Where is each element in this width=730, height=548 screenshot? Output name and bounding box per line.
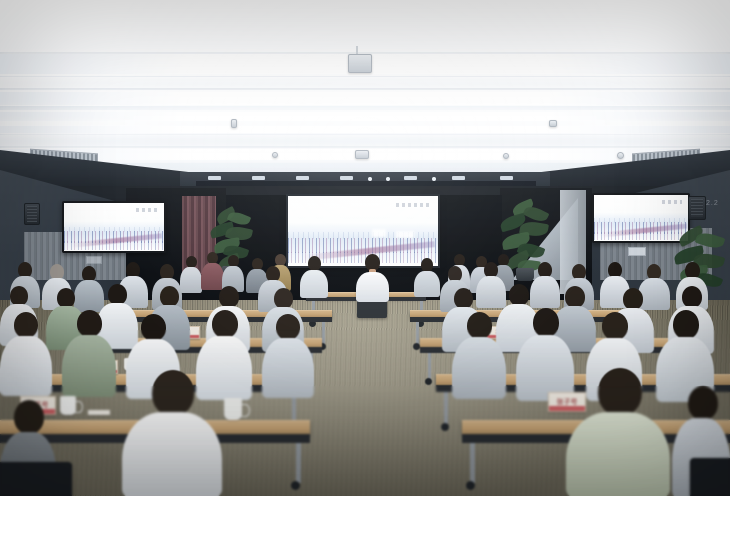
- head: [308, 256, 321, 271]
- ceiling-light-strip: [0, 112, 730, 121]
- attendee-presenter-center: [355, 254, 389, 310]
- screenshot-canvas: 2.2: [0, 0, 730, 548]
- handout-papers: [88, 410, 110, 415]
- head: [14, 312, 38, 338]
- truss-spotlight: [340, 176, 353, 180]
- head: [276, 314, 300, 340]
- head: [14, 400, 44, 434]
- head: [467, 312, 492, 339]
- head: [509, 284, 529, 306]
- head: [533, 308, 559, 337]
- ceiling-light-strip: [0, 126, 730, 133]
- letterbox-bottom: [0, 496, 730, 548]
- screen-watermark-text: [136, 208, 158, 212]
- desk-caster: [441, 423, 449, 431]
- ceiling-projector: [348, 54, 372, 73]
- city-block: [372, 229, 386, 237]
- desk-leg: [416, 322, 419, 344]
- torso: [300, 270, 328, 298]
- left-wall-monitor[interactable]: [64, 203, 164, 251]
- head: [274, 288, 293, 309]
- desk-caster: [291, 481, 300, 490]
- screen-watermark-text: [662, 200, 683, 204]
- head: [108, 284, 127, 305]
- truss-spotlight: [404, 176, 417, 180]
- coffee-mug: [60, 396, 76, 415]
- torso: [62, 335, 116, 397]
- desk-caster: [425, 378, 432, 385]
- head: [219, 286, 239, 308]
- desk-caster: [413, 343, 420, 350]
- torso: [356, 272, 389, 302]
- screen-watermark-text: [396, 203, 429, 207]
- ceiling-seam: [0, 134, 730, 135]
- attendee: [262, 314, 314, 406]
- head: [565, 286, 585, 308]
- attendee-front-left: [300, 256, 328, 306]
- torso: [414, 271, 440, 297]
- head: [141, 314, 166, 341]
- chair-foreground-left: [0, 462, 72, 496]
- ceiling-seam: [0, 88, 730, 90]
- attendee: [452, 312, 506, 406]
- desk-leg: [428, 353, 431, 379]
- ceiling-light-strip: [0, 106, 730, 110]
- coffee-mug: [224, 398, 242, 420]
- torso: [122, 412, 222, 496]
- shirt-collar: [366, 273, 379, 275]
- head: [77, 310, 102, 337]
- head: [152, 370, 194, 416]
- truss-spotlight: [252, 176, 265, 180]
- desk-leg: [322, 322, 325, 344]
- head: [57, 288, 75, 308]
- desk-leg: [470, 443, 475, 483]
- attendee: [62, 310, 116, 406]
- wall-speaker-left: [24, 203, 40, 225]
- mug-handle: [75, 401, 83, 413]
- desk-caster: [466, 481, 475, 490]
- torso: [262, 338, 314, 398]
- head: [688, 386, 718, 420]
- attendee-nearest-left: [122, 370, 222, 496]
- head: [454, 288, 473, 309]
- city-block: [396, 231, 414, 238]
- ceiling-speaker: [355, 150, 369, 159]
- ceiling-sensor: [617, 152, 624, 159]
- ceiling-sensor: [272, 152, 278, 158]
- city-foreground-band: [64, 241, 164, 250]
- ceiling-sensor: [231, 119, 237, 128]
- mug-handle: [241, 404, 250, 417]
- head: [421, 258, 433, 272]
- head: [212, 310, 238, 338]
- head: [623, 288, 643, 310]
- truss-spotlight: [208, 176, 221, 180]
- torso: [452, 337, 506, 399]
- ceiling-sensor: [503, 153, 509, 159]
- attendee-front-right: [414, 258, 440, 306]
- truss-spotlight: [452, 176, 465, 180]
- wall-room-number: 2.2: [706, 200, 719, 207]
- ceiling-light-strip: [0, 92, 730, 105]
- head: [673, 310, 699, 339]
- torso: [566, 412, 670, 496]
- conference-room-photograph: 2.2: [0, 0, 730, 496]
- head: [160, 286, 179, 307]
- wall-sign-plate: [628, 247, 646, 256]
- head: [10, 286, 28, 306]
- head: [682, 286, 702, 308]
- speaker-grill: [27, 206, 37, 222]
- truss-spotlight: [296, 176, 309, 180]
- ceiling-sensor: [549, 120, 557, 127]
- attendee-nearest-right: [566, 368, 670, 496]
- ceiling-seam: [0, 76, 730, 77]
- desk-leg: [444, 392, 448, 424]
- desk-leg: [296, 443, 301, 483]
- truss-spotlight: [500, 176, 513, 180]
- head: [602, 312, 628, 340]
- ceiling-seam: [0, 146, 730, 148]
- wall-speaker-right: [688, 196, 706, 220]
- attendee: [0, 312, 52, 404]
- speaker-grill: [691, 199, 703, 217]
- torso: [0, 336, 52, 396]
- wall-sign-plate: [86, 256, 102, 264]
- head: [598, 368, 642, 416]
- chair-foreground-right: [690, 458, 730, 496]
